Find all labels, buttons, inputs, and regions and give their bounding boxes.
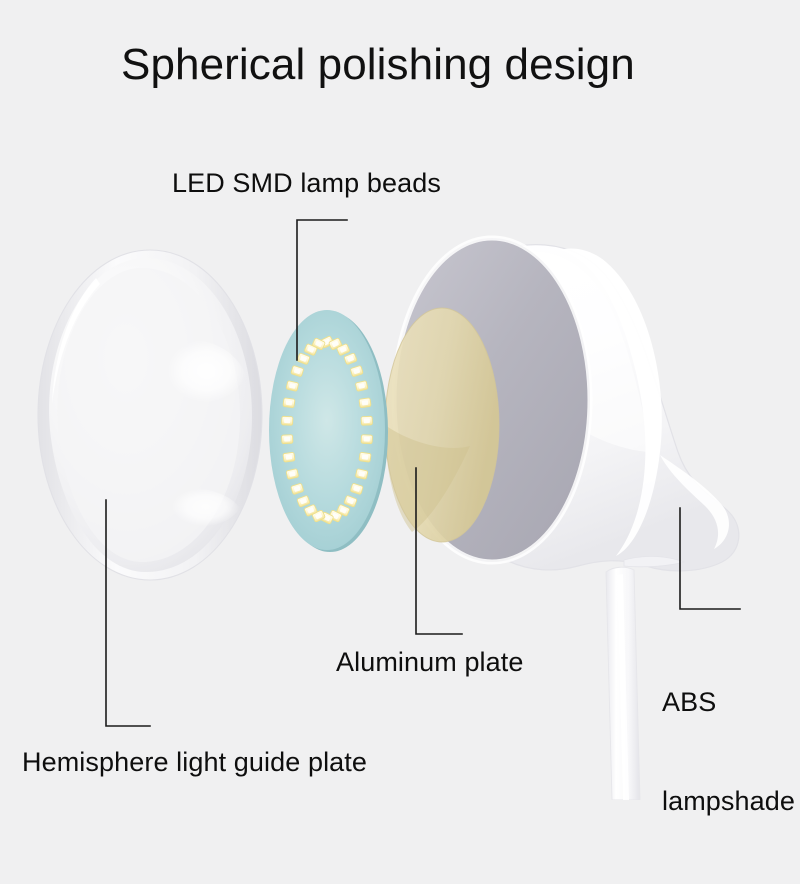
callout-label-led: LED SMD lamp beads — [172, 168, 441, 199]
led-bead-phosphor — [286, 400, 293, 406]
led-bead-phosphor — [364, 418, 370, 423]
callout-label-abs-line2: lampshade — [662, 785, 795, 818]
callout-label-abs: ABS lampshade — [662, 620, 795, 884]
led-bead-phosphor — [364, 437, 370, 442]
aluminum-plate-group — [385, 308, 499, 542]
led-board-group — [269, 310, 388, 552]
hemisphere-diffuser-group — [38, 250, 262, 580]
led-bead-phosphor — [284, 437, 290, 442]
callout-label-hemisphere: Hemisphere light guide plate — [22, 747, 367, 778]
callout-label-aluminum: Aluminum plate — [336, 647, 524, 678]
led-bead-phosphor — [362, 454, 369, 460]
page-title: Spherical polishing design — [121, 40, 635, 90]
led-bead-phosphor — [284, 418, 290, 423]
product-exploded-view: Spherical polishing design LED SMD lamp … — [0, 0, 800, 800]
led-bead-phosphor — [286, 454, 293, 460]
callout-label-abs-line1: ABS — [662, 686, 795, 719]
led-bead-phosphor — [362, 400, 369, 406]
